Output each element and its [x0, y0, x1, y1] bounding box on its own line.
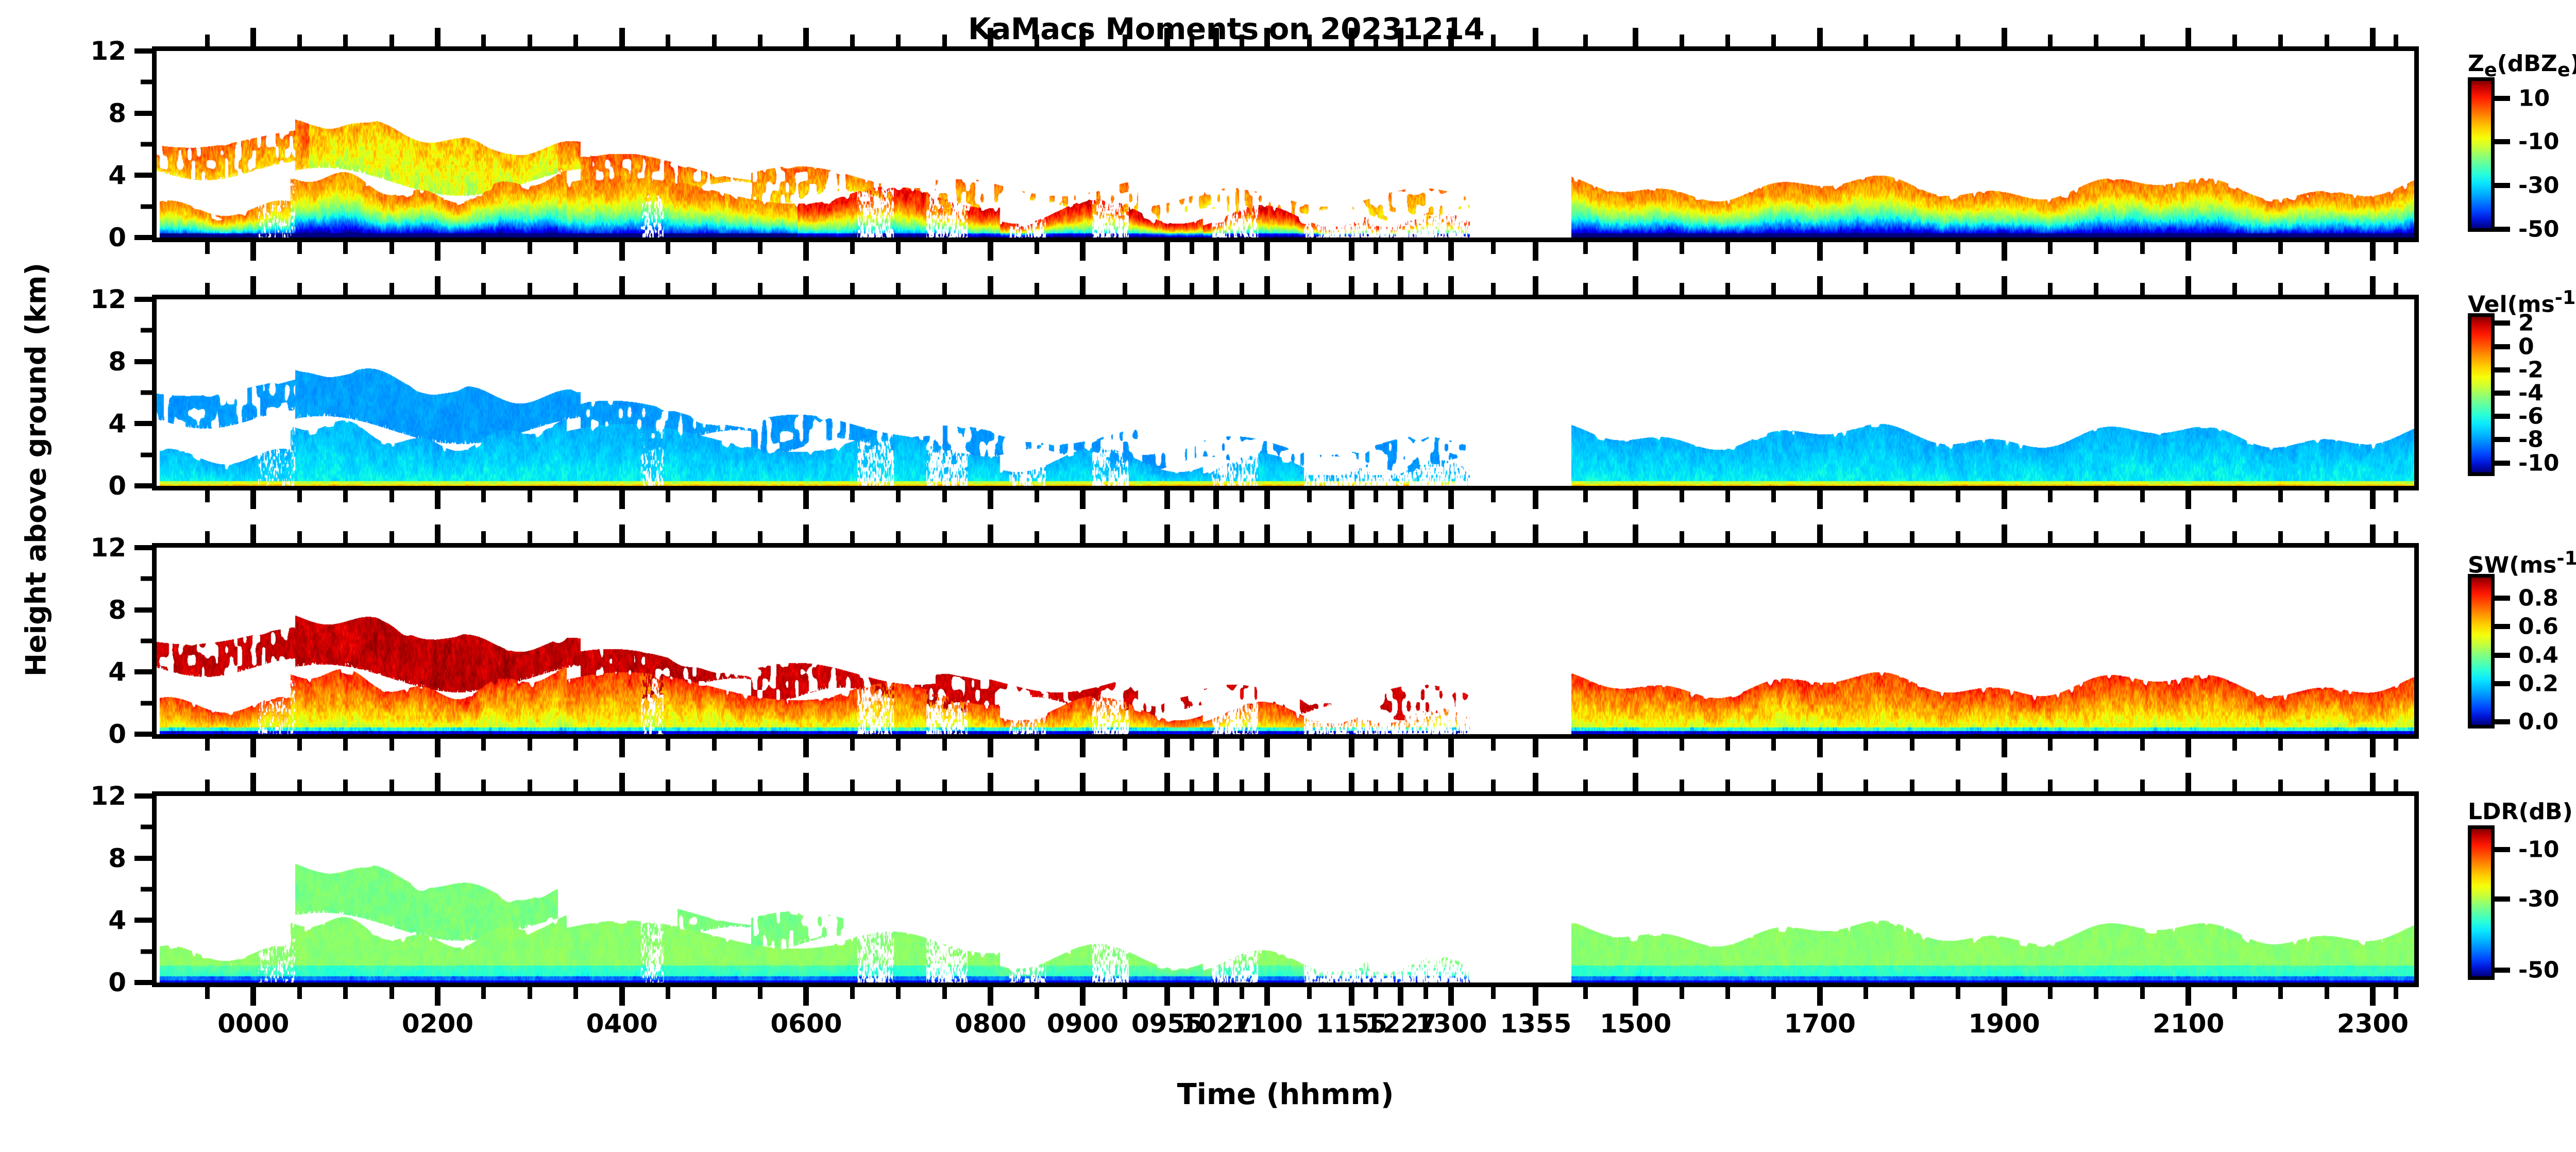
x-tick-minor [1583, 490, 1588, 502]
x-tick-minor-top [896, 35, 901, 46]
x-tick-major [803, 987, 809, 1006]
y-tick-label: 12 [33, 783, 126, 809]
x-tick-major-top [1398, 28, 1403, 46]
x-tick-major-top [2185, 524, 2191, 543]
colorbar-tick-label: -6 [2518, 403, 2544, 430]
x-tick-major-top [1533, 28, 1538, 46]
x-tick-minor [205, 490, 210, 502]
x-tick-minor [2278, 490, 2283, 502]
x-tick-minor [1680, 242, 1684, 254]
x-tick-minor [1123, 987, 1127, 999]
x-tick-major-top [435, 28, 440, 46]
x-tick-minor [2048, 987, 2053, 999]
x-tick-major [2185, 987, 2191, 1006]
plot-area-velocity [157, 299, 2414, 486]
x-tick-minor-top [1240, 531, 1244, 543]
x-tick-label: 1500 [1600, 1011, 1671, 1037]
x-tick-major-top [2002, 276, 2007, 295]
x-tick-minor-top [573, 531, 578, 543]
x-tick-major [1213, 987, 1219, 1006]
x-tick-minor-top [1423, 283, 1428, 295]
x-tick-major-top [619, 524, 625, 543]
x-tick-major-top [1398, 524, 1403, 543]
x-tick-minor [1771, 490, 1776, 502]
x-tick-major-top [803, 28, 809, 46]
x-tick-major [1633, 987, 1638, 1006]
x-tick-minor-top [1583, 35, 1588, 46]
x-tick-minor-top [758, 780, 762, 791]
x-tick-minor-top [1863, 531, 1868, 543]
x-tick-minor-top [343, 531, 348, 543]
y-tick-label: 4 [33, 907, 126, 933]
y-tick-label: 8 [33, 349, 126, 375]
x-tick-minor-top [1583, 283, 1588, 295]
figure-root: KaMacs Moments on 20231214 Height above … [0, 0, 2576, 1152]
colorbar-title-sw: SW(ms-1) [2468, 547, 2576, 579]
x-tick-minor-top [481, 35, 486, 46]
y-tick-label: 0 [33, 473, 126, 499]
x-tick-major-top [1164, 28, 1170, 46]
x-tick-minor-top [1910, 780, 1914, 791]
y-tick-minor [141, 452, 152, 457]
x-tick-major [1349, 987, 1354, 1006]
x-tick-major-top [1398, 773, 1403, 791]
x-tick-minor [1307, 490, 1312, 502]
y-tick-minor [141, 80, 152, 84]
x-tick-minor [205, 739, 210, 751]
x-tick-minor-top [389, 531, 394, 543]
colorbar-tick-label: 0.6 [2518, 614, 2558, 640]
x-tick-minor [343, 490, 348, 502]
x-tick-minor-top [2394, 283, 2398, 295]
x-tick-minor-top [758, 35, 762, 46]
x-tick-minor-top [850, 780, 855, 791]
x-tick-minor [1123, 739, 1127, 751]
x-tick-minor-top [2140, 780, 2145, 791]
x-tick-minor-top [758, 283, 762, 295]
x-tick-minor-top [1374, 531, 1378, 543]
x-tick-major [1533, 242, 1538, 261]
x-tick-minor-top [205, 283, 210, 295]
x-tick-major [988, 987, 993, 1006]
x-tick-minor [528, 987, 532, 999]
x-tick-minor [389, 987, 394, 999]
x-tick-minor-top [1374, 283, 1378, 295]
x-tick-minor-top [1725, 780, 1730, 791]
x-tick-minor [528, 242, 532, 254]
x-tick-minor-top [389, 283, 394, 295]
x-tick-minor [1725, 987, 1730, 999]
x-tick-major [988, 242, 993, 261]
x-tick-major [435, 739, 440, 757]
x-tick-minor [1035, 739, 1039, 751]
x-tick-major-top [2002, 773, 2007, 791]
x-tick-minor-top [2094, 531, 2098, 543]
x-tick-major-top [988, 524, 993, 543]
x-tick-minor-top [1491, 283, 1496, 295]
x-tick-minor-top [1035, 531, 1039, 543]
x-tick-minor [2325, 739, 2329, 751]
x-tick-minor-top [896, 531, 901, 543]
x-tick-major [1633, 242, 1638, 261]
x-tick-minor [1190, 242, 1194, 254]
x-tick-minor [758, 739, 762, 751]
x-tick-minor [1583, 739, 1588, 751]
x-tick-minor-top [2048, 531, 2053, 543]
x-tick-minor-top [251, 283, 256, 295]
x-tick-major [1817, 739, 1823, 757]
colorbar-tick-label: 0.2 [2518, 671, 2558, 697]
x-tick-minor-top [2232, 531, 2237, 543]
colorbar-tick-label: -50 [2518, 216, 2560, 242]
x-tick-minor-top [1863, 35, 1868, 46]
panel-spectral-width[interactable] [152, 543, 2419, 739]
colorbar-tick [2495, 227, 2510, 232]
x-tick-minor-top [251, 531, 256, 543]
x-tick-minor [573, 490, 578, 502]
x-tick-minor [1956, 242, 1960, 254]
x-tick-minor-top [666, 283, 670, 295]
x-tick-minor-top [2278, 283, 2283, 295]
x-tick-minor-top [2278, 780, 2283, 791]
x-tick-major [1080, 987, 1086, 1006]
x-tick-minor-top [251, 35, 256, 46]
x-tick-major-top [803, 276, 809, 295]
x-tick-minor [2094, 242, 2098, 254]
y-tick-major [134, 173, 152, 178]
x-tick-minor [528, 739, 532, 751]
x-tick-minor [666, 242, 670, 254]
x-tick-major [619, 242, 625, 261]
x-tick-major [2370, 739, 2376, 757]
colorbar-tick-label: 0 [2518, 333, 2534, 360]
x-tick-major-top [435, 524, 440, 543]
x-tick-minor [2094, 490, 2098, 502]
x-tick-major [1448, 987, 1454, 1006]
x-tick-minor-top [758, 531, 762, 543]
x-tick-major [1080, 490, 1086, 509]
colorbar-tick-label: -8 [2518, 427, 2544, 453]
x-tick-minor-top [2325, 780, 2329, 791]
x-tick-minor-top [528, 780, 532, 791]
x-tick-minor [1190, 490, 1194, 502]
colorbar-tick-label: 0.4 [2518, 642, 2558, 668]
x-tick-minor [1680, 987, 1684, 999]
colorbar-tick [2495, 461, 2510, 466]
x-tick-minor-top [1491, 531, 1496, 543]
x-tick-minor-top [1956, 283, 1960, 295]
x-tick-major [988, 490, 993, 509]
y-tick-major [134, 545, 152, 550]
x-tick-minor [2140, 987, 2145, 999]
x-tick-minor [1491, 987, 1496, 999]
x-tick-major [1164, 490, 1170, 509]
x-tick-minor-top [1491, 780, 1496, 791]
x-tick-major [2002, 739, 2007, 757]
x-tick-major-top [1817, 524, 1823, 543]
x-tick-minor-top [1583, 531, 1588, 543]
x-tick-major [1448, 739, 1454, 757]
x-tick-major [2002, 987, 2007, 1006]
x-tick-minor [1771, 242, 1776, 254]
y-tick-major [134, 111, 152, 116]
y-tick-label: 0 [33, 970, 126, 995]
x-tick-minor-top [896, 780, 901, 791]
x-tick-minor [1035, 242, 1039, 254]
x-tick-minor [1190, 739, 1194, 751]
x-tick-major-top [1164, 524, 1170, 543]
x-tick-major-top [803, 524, 809, 543]
x-tick-minor-top [1123, 780, 1127, 791]
x-tick-major [435, 490, 440, 509]
x-tick-major [1817, 490, 1823, 509]
x-tick-minor [1583, 242, 1588, 254]
colorbar-tick-label: 10 [2518, 85, 2550, 111]
x-tick-minor [1491, 490, 1496, 502]
x-tick-minor [528, 490, 532, 502]
x-tick-minor [896, 739, 901, 751]
x-tick-minor-top [1190, 283, 1194, 295]
x-tick-major-top [1633, 28, 1638, 46]
x-tick-minor-top [573, 780, 578, 791]
colorbar-tick-label: -4 [2518, 380, 2544, 406]
x-tick-major [2002, 490, 2007, 509]
x-tick-minor [297, 490, 302, 502]
x-tick-minor-top [712, 780, 717, 791]
x-tick-minor [666, 739, 670, 751]
x-tick-major-top [1213, 28, 1219, 46]
plot-area-reflectivity [157, 51, 2414, 238]
x-tick-minor [1725, 242, 1730, 254]
x-tick-minor-top [1863, 283, 1868, 295]
y-tick-minor [141, 825, 152, 829]
x-tick-minor-top [297, 35, 302, 46]
x-tick-major [1817, 987, 1823, 1006]
x-tick-minor-top [1374, 780, 1378, 791]
y-tick-major [134, 359, 152, 364]
x-tick-label: 1100 [1231, 1011, 1303, 1037]
x-tick-minor [850, 987, 855, 999]
x-tick-minor-top [481, 283, 486, 295]
y-tick-label: 12 [33, 535, 126, 561]
y-tick-label: 4 [33, 659, 126, 685]
colorbar-ze [2468, 77, 2495, 232]
x-tick-major-top [2002, 28, 2007, 46]
x-tick-minor-top [666, 531, 670, 543]
x-tick-label: 1300 [1415, 1011, 1487, 1037]
x-tick-major [435, 242, 440, 261]
x-tick-minor-top [1123, 35, 1127, 46]
x-tick-minor-top [1956, 35, 1960, 46]
x-tick-minor-top [666, 35, 670, 46]
x-tick-minor-top [1771, 35, 1776, 46]
x-tick-major-top [988, 773, 993, 791]
x-tick-major [1080, 242, 1086, 261]
colorbar-tick [2495, 847, 2510, 852]
x-tick-minor [1035, 987, 1039, 999]
x-tick-minor-top [1725, 35, 1730, 46]
x-tick-major [1264, 739, 1270, 757]
x-tick-minor-top [1910, 531, 1914, 543]
x-tick-minor-top [2094, 780, 2098, 791]
x-tick-major-top [1080, 524, 1086, 543]
y-tick-label: 4 [33, 162, 126, 188]
x-tick-minor [1910, 242, 1914, 254]
x-tick-major [619, 739, 625, 757]
x-tick-minor [1307, 242, 1312, 254]
y-tick-major [134, 48, 152, 54]
x-tick-minor-top [1307, 531, 1312, 543]
x-tick-label: 0800 [955, 1011, 1026, 1037]
x-tick-minor-top [1307, 35, 1312, 46]
x-tick-major [2185, 242, 2191, 261]
x-tick-minor-top [1307, 283, 1312, 295]
x-tick-minor [1910, 490, 1914, 502]
y-tick-minor [141, 391, 152, 395]
x-tick-minor [1491, 739, 1496, 751]
y-tick-major [134, 483, 152, 488]
x-tick-major-top [2185, 773, 2191, 791]
x-tick-minor [1423, 739, 1428, 751]
x-tick-major-top [435, 276, 440, 295]
x-tick-major-top [1164, 773, 1170, 791]
x-tick-minor-top [1956, 780, 1960, 791]
colorbar-tick [2495, 344, 2510, 349]
x-tick-minor-top [481, 780, 486, 791]
x-tick-minor [1863, 739, 1868, 751]
y-tick-minor [141, 577, 152, 581]
x-tick-minor-top [343, 780, 348, 791]
x-tick-major-top [1817, 28, 1823, 46]
x-tick-label: 1355 [1500, 1011, 1571, 1037]
x-tick-major [1213, 242, 1219, 261]
x-tick-minor [1771, 987, 1776, 999]
y-tick-major [134, 235, 152, 240]
x-tick-major [1164, 987, 1170, 1006]
x-tick-minor-top [205, 780, 210, 791]
y-tick-minor [141, 204, 152, 209]
x-tick-minor-top [1190, 780, 1194, 791]
panel-ldr[interactable] [152, 791, 2419, 987]
x-tick-major [1633, 490, 1638, 509]
x-tick-minor-top [2394, 531, 2398, 543]
page-title: KaMacs Moments on 20231214 [0, 11, 2452, 46]
colorbar-tick [2495, 896, 2510, 902]
x-tick-minor-top [1680, 283, 1684, 295]
x-tick-minor-top [343, 35, 348, 46]
x-tick-major [1349, 242, 1354, 261]
x-tick-minor-top [1374, 35, 1378, 46]
x-tick-minor [1910, 739, 1914, 751]
x-tick-minor [1583, 987, 1588, 999]
colorbar-tick [2495, 183, 2510, 188]
x-tick-major [1264, 242, 1270, 261]
x-tick-minor-top [1240, 35, 1244, 46]
x-tick-minor [2048, 490, 2053, 502]
x-tick-minor-top [1680, 531, 1684, 543]
x-tick-major [1264, 987, 1270, 1006]
x-tick-minor-top [712, 35, 717, 46]
x-tick-major [2185, 739, 2191, 757]
x-tick-major-top [1264, 276, 1270, 295]
x-tick-minor-top [528, 35, 532, 46]
y-tick-minor [141, 701, 152, 705]
colorbar-tick [2495, 437, 2510, 442]
x-tick-minor [251, 739, 256, 751]
y-tick-minor [141, 142, 152, 147]
y-tick-label: 0 [33, 721, 126, 747]
x-tick-major [2185, 490, 2191, 509]
x-tick-minor [1423, 987, 1428, 999]
x-tick-major [803, 739, 809, 757]
x-tick-minor-top [2140, 35, 2145, 46]
x-tick-minor-top [2094, 283, 2098, 295]
y-tick-major [134, 421, 152, 426]
x-tick-minor [2140, 490, 2145, 502]
x-tick-minor-top [1583, 780, 1588, 791]
x-tick-minor [758, 242, 762, 254]
x-tick-minor [2394, 739, 2398, 751]
x-tick-major [2370, 987, 2376, 1006]
x-tick-major-top [988, 28, 993, 46]
x-tick-minor [1307, 987, 1312, 999]
x-tick-major-top [1448, 524, 1454, 543]
x-tick-major [1398, 242, 1403, 261]
x-tick-major-top [2185, 28, 2191, 46]
x-tick-minor [2394, 242, 2398, 254]
x-tick-minor-top [1910, 283, 1914, 295]
x-tick-minor-top [1680, 780, 1684, 791]
x-tick-major-top [1349, 524, 1354, 543]
x-tick-label: 0000 [217, 1011, 289, 1037]
colorbar-title-ze: Ze(dBZe) [2468, 50, 2576, 81]
colorbar-tick [2495, 681, 2510, 686]
x-tick-minor [1240, 739, 1244, 751]
colorbar-title-ldr: LDR(dB) [2468, 799, 2573, 825]
y-tick-major [134, 856, 152, 861]
x-tick-minor [1423, 242, 1428, 254]
x-tick-label: 1700 [1784, 1011, 1856, 1037]
x-tick-minor [481, 987, 486, 999]
x-tick-minor-top [2325, 35, 2329, 46]
x-tick-minor-top [2394, 35, 2398, 46]
x-tick-minor [712, 242, 717, 254]
x-tick-major-top [1264, 773, 1270, 791]
x-tick-minor-top [1035, 780, 1039, 791]
x-tick-major-top [2370, 28, 2376, 46]
x-tick-minor [1491, 242, 1496, 254]
x-tick-minor-top [1771, 780, 1776, 791]
x-tick-major-top [1213, 524, 1219, 543]
x-tick-major-top [2185, 276, 2191, 295]
x-tick-minor [1374, 242, 1378, 254]
x-tick-minor-top [1910, 35, 1914, 46]
x-tick-major [2370, 242, 2376, 261]
colorbar-tick-label: -10 [2518, 836, 2560, 862]
x-tick-minor [1863, 490, 1868, 502]
colorbar-tick [2495, 968, 2510, 973]
x-tick-minor [1190, 987, 1194, 999]
x-tick-minor [2325, 490, 2329, 502]
x-tick-label: 0600 [770, 1011, 842, 1037]
colorbar-tick [2495, 596, 2510, 601]
panel-reflectivity[interactable] [152, 46, 2419, 242]
colorbar-tick-label: 0.8 [2518, 585, 2558, 611]
x-tick-minor [1910, 987, 1914, 999]
x-tick-minor [896, 987, 901, 999]
x-tick-minor [1374, 987, 1378, 999]
panel-velocity[interactable] [152, 295, 2419, 490]
